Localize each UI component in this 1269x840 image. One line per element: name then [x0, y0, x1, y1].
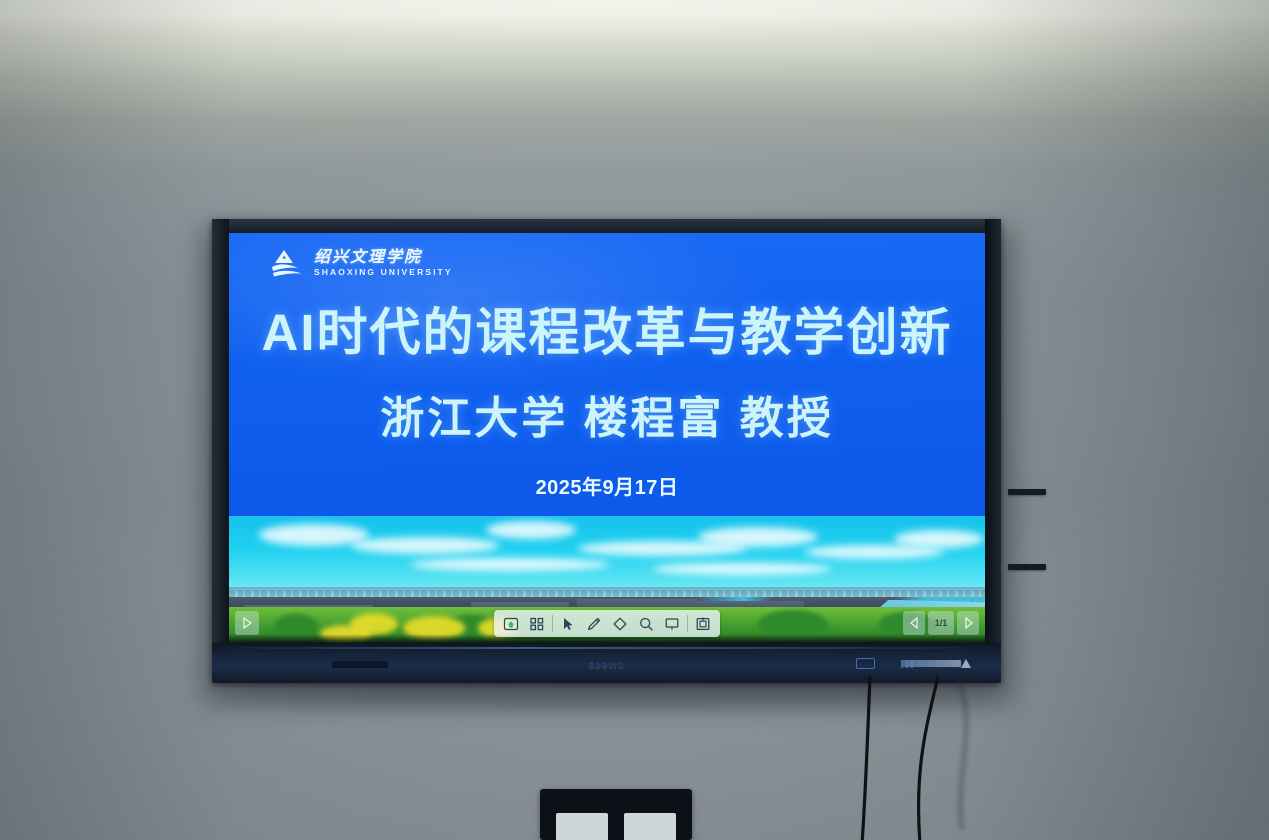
logo-english-name: SHAOXING UNIVERSITY: [314, 268, 453, 277]
bezel-left: [212, 219, 229, 683]
cursor-pointer-icon[interactable]: [555, 612, 581, 635]
cloud: [410, 558, 610, 571]
slide-subtitle: 浙江大学 楼程富 教授: [229, 382, 985, 446]
display-screen[interactable]: 绍兴文理学院 SHAOXING UNIVERSITY AI时代的课程改革与教学创…: [229, 233, 985, 643]
university-logo: 绍兴文理学院 SHAOXING UNIVERSITY: [271, 248, 453, 278]
slide-navigation[interactable]: 1/1: [903, 611, 979, 635]
apps-grid-icon[interactable]: [524, 612, 550, 635]
sidebar-expand-left-button[interactable]: [235, 611, 259, 635]
wall-outlet-plate[interactable]: [540, 789, 692, 840]
magnifier-icon[interactable]: [633, 612, 659, 635]
whiteboard-icon[interactable]: [659, 612, 685, 635]
slide-date: 2025年9月17日: [229, 471, 985, 500]
room-scene: 绍兴文理学院 SHAOXING UNIVERSITY AI时代的课程改革与教学创…: [0, 0, 1269, 840]
slide-headings: AI时代的课程改革与教学创新 浙江大学 楼程富 教授 2025年9月17日: [229, 305, 985, 500]
annotation-toolbar[interactable]: [494, 610, 720, 637]
eraser-icon[interactable]: [607, 612, 633, 635]
cloud: [652, 563, 832, 575]
display-brand-label: seewo: [588, 659, 624, 671]
triangle-left-icon: [910, 617, 919, 629]
previous-slide-button[interactable]: [903, 611, 925, 635]
bezel-right: [985, 219, 1001, 683]
mountain-wave-logo-icon: [271, 248, 307, 278]
presentation-slide: 绍兴文理学院 SHAOXING UNIVERSITY AI时代的课程改革与教学创…: [229, 233, 985, 643]
logo-chinese-name: 绍兴文理学院: [314, 249, 453, 265]
next-slide-button[interactable]: [957, 611, 979, 635]
slide-title: AI时代的课程改革与教学创新: [229, 305, 985, 361]
outlet-socket-right[interactable]: [624, 813, 676, 840]
pen-icon[interactable]: [581, 612, 607, 635]
power-indicator-led[interactable]: [856, 658, 875, 669]
bezel-top: [212, 219, 1001, 233]
interactive-flat-panel-display[interactable]: 绍兴文理学院 SHAOXING UNIVERSITY AI时代的课程改革与教学创…: [212, 219, 1001, 683]
port-triangle-marker: [961, 659, 971, 668]
toolbar-divider: [687, 615, 688, 632]
campus-aerial-photo: 1/1: [229, 516, 985, 643]
cloud: [486, 521, 576, 539]
triangle-right-icon: [964, 617, 973, 629]
triangle-right-icon: [242, 617, 252, 629]
page-indicator: 1/1: [928, 611, 954, 635]
cloud: [894, 530, 984, 548]
bezel-highlight: [212, 647, 1001, 649]
slide-title-area: 绍兴文理学院 SHAOXING UNIVERSITY AI时代的课程改革与教学创…: [229, 233, 985, 516]
home-icon[interactable]: [498, 612, 524, 635]
outlet-socket-left[interactable]: [556, 813, 608, 840]
screenshot-icon[interactable]: [690, 612, 716, 635]
toolbar-divider: [552, 615, 553, 632]
port-label-strip: [903, 660, 961, 667]
ir-receiver-window: [332, 661, 388, 668]
cable-wall-shadow: [918, 680, 1028, 830]
